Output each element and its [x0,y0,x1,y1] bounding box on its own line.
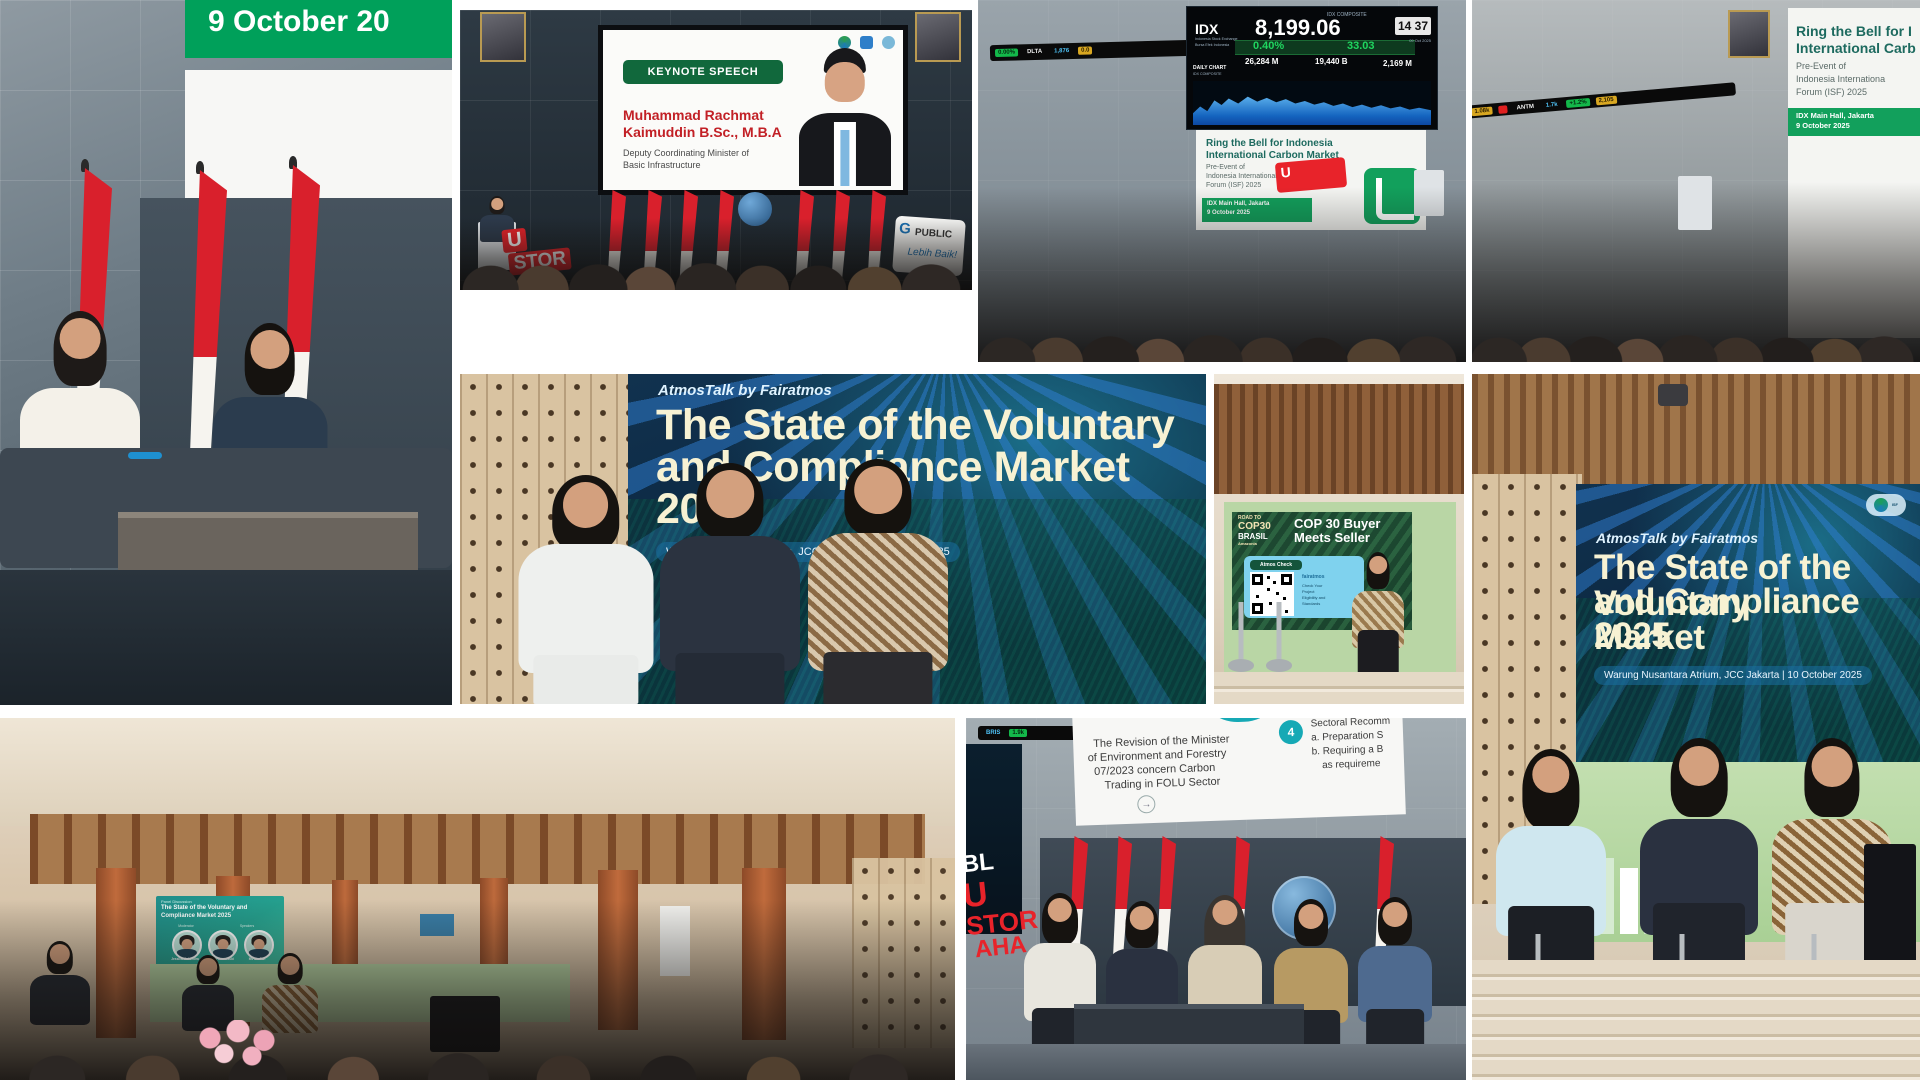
hall-ceiling [1472,374,1920,484]
folu-right-line4: as requireme [1322,757,1381,773]
idx-change-points: 33.03 [1347,40,1375,52]
banner-venue-bar: IDX Main Hall, Jakarta 9 October 2025 [1788,108,1920,136]
group-person-man-suit [660,470,800,704]
idx-chart-label1: DAILY CHART [1193,65,1226,71]
sign-word-aha: AHA [973,931,1028,964]
stage-floor [0,570,452,705]
banner-sub-line1: Pre-Event of [1796,61,1846,72]
ticker-symbol: DLTA [1024,48,1045,57]
atmostalk-led-screen: ISF AtmosTalk by Fairatmos The State of … [1576,484,1920,784]
idx-exchange-sub2: Bursa Efek Indonesia [1195,43,1229,47]
banner-venue-line2: 9 October 2025 [1796,122,1850,131]
atmos-check-tag: Atmos Check [1250,560,1302,570]
cop30-title-line2: Meets Seller [1294,531,1370,545]
idx-exchange-sub1: Indonesia Stock Exchange [1195,37,1238,41]
atmostalk-meta: Warung Nusantara Atrium, JCC Jakarta | 1… [1594,666,1872,685]
cop30-brand-line4: Amazonia [1238,542,1257,546]
idx-clock: 14 37 [1395,17,1431,35]
backdrop-date-text: 9 October 20 [208,5,452,39]
idx-composite-board: IDX Indonesia Stock Exchange Bursa Efek … [1186,6,1438,130]
wall-portrait [915,12,961,62]
keynote-name-line1: Muhammad Rachmat [623,108,764,124]
next-arrow-icon[interactable]: → [1137,795,1156,814]
qr-panel: Atmos Check [1244,556,1364,618]
keynote-speaker-photo [799,46,891,186]
banner-venue-line1: IDX Main Hall, Jakarta [1796,112,1874,121]
cop30-brand-line2: COP30 [1238,522,1271,533]
backdrop-sub-line1: Pre-Event of [1206,164,1245,172]
banner-title-line1: Ring the Bell for I [1796,24,1912,39]
slide-teal-arc [1197,718,1284,723]
qr-caption-line4: Standards [1302,601,1320,606]
ceiling-camera [1658,384,1688,406]
bar-stool [1266,602,1292,672]
banner-sub-line3: Forum (ISF) 2025 [1796,87,1867,98]
ticker-delta: 0.0 [1078,46,1093,54]
isf-logo-text: ISF [1892,503,1898,507]
lobby-crowd [0,900,955,1080]
panel-lobby[interactable]: Panel Discussion The State of the Volunt… [0,718,955,1080]
ticker-price: 1,876 [1051,47,1072,56]
standing-audience [978,187,1466,362]
idx-chart-label2: IDX COMPOSITE [1193,72,1222,76]
wall-portrait [480,12,526,62]
idx-exchange-label: IDX [1195,21,1218,37]
idx-change-percent: 0.40% [1253,40,1284,52]
isf-logo [1874,498,1888,512]
atmostalk-kicker: AtmosTalk by Fairatmos [1596,530,1758,546]
keynote-badge: KEYNOTE SPEECH [623,60,783,84]
group-person-woman [518,482,653,704]
panel-atmostalk-group[interactable]: AtmosTalk by Fairatmos The State of the … [460,374,1206,704]
cop30-presenter [1352,556,1404,680]
atmostalk-title-line3: 2025 [1594,618,1670,654]
audience-crowd [460,218,972,290]
stage-floor [966,1044,1466,1080]
panel-cop30[interactable]: ROAD TO COP30 BRASIL Amazonia COP 30 Buy… [1214,374,1464,704]
qr-caption-line3: Eligibility and [1302,595,1325,600]
keynote-role-line2: Basic Infrastructure [623,160,701,171]
folu-left-line4: Trading in FOLU Sector [1104,775,1220,794]
qr-caption-line1: Check Your [1302,583,1322,588]
bar-stool [1228,602,1254,672]
lobby-coffered-ceiling [30,814,925,884]
podium [1678,176,1712,230]
photo-collage: 9 October 20 [0,0,1920,1080]
group-person-man-batik [808,466,948,704]
wall-portrait [1728,10,1770,58]
idx-daily-chart [1193,81,1431,125]
isf-logo-chip: ISF [1866,494,1906,516]
fairatmos-logo: fairatmos [1302,574,1325,580]
atmostalk-kicker: AtmosTalk by Fairatmos [658,382,832,399]
cop30-title-line1: COP 30 Buyer [1294,517,1380,531]
idx-frequency: 2,169 M [1383,59,1412,68]
mezzanine-wood-railing [1214,384,1464,494]
panel-atmostalk-panel-right[interactable]: ISF AtmosTalk by Fairatmos The State of … [1472,374,1920,1080]
panel-keynote[interactable]: KEYNOTE SPEECH Muhammad Rachmat Kaimuddi… [460,10,972,290]
stage-steps [1472,960,1920,1080]
idx-index-value: 8,199.06 [1255,15,1341,41]
panel-folu-panel[interactable]: BRIS1.9k The Revision of the Minister of… [966,718,1466,1080]
flower-arrangement [190,1020,290,1080]
panel-right-banner[interactable]: 1.08k ANTM1.7k +1.2%2,105 Ring the Bell … [1472,0,1920,362]
banner-title-line2: International Carb [1796,41,1916,56]
qr-caption-line2: Project [1302,589,1314,594]
keynote-role-line1: Deputy Coordinating Minister of [623,148,749,159]
keynote-slide: KEYNOTE SPEECH Muhammad Rachmat Kaimuddi… [598,25,908,195]
banner-sub-line2: Indonesia Internationa [1796,74,1885,85]
idx-value: 19,440 B [1315,57,1347,66]
folu-panelist [1358,902,1432,1060]
panel-backdrop-flags[interactable]: 9 October 20 [0,0,452,705]
idx-date: 09 Oct 2025 [1409,38,1431,43]
ticker-change-pct: 0.00% [995,48,1018,57]
backdrop-title-line1: Ring the Bell for Indonesia [1206,138,1333,149]
folu-step-number: 4 [1279,720,1304,745]
stage-steps [1214,672,1464,704]
lobby-ceiling [0,718,955,826]
keynote-name-line2: Kaimuddin B.Sc., M.B.A [623,125,782,141]
folu-slide: The Revision of the Minister of Environm… [1072,718,1406,826]
panel-idx-hall[interactable]: 0.00% DLTA 1,876 0.0 IDX Indonesia Stock… [978,0,1466,362]
microphone [128,452,162,459]
idx-volume: 26,284 M [1245,57,1278,66]
sign-word-aku: U [1280,164,1291,181]
atmostalk-title-line1: The State of the Voluntary [656,404,1174,448]
